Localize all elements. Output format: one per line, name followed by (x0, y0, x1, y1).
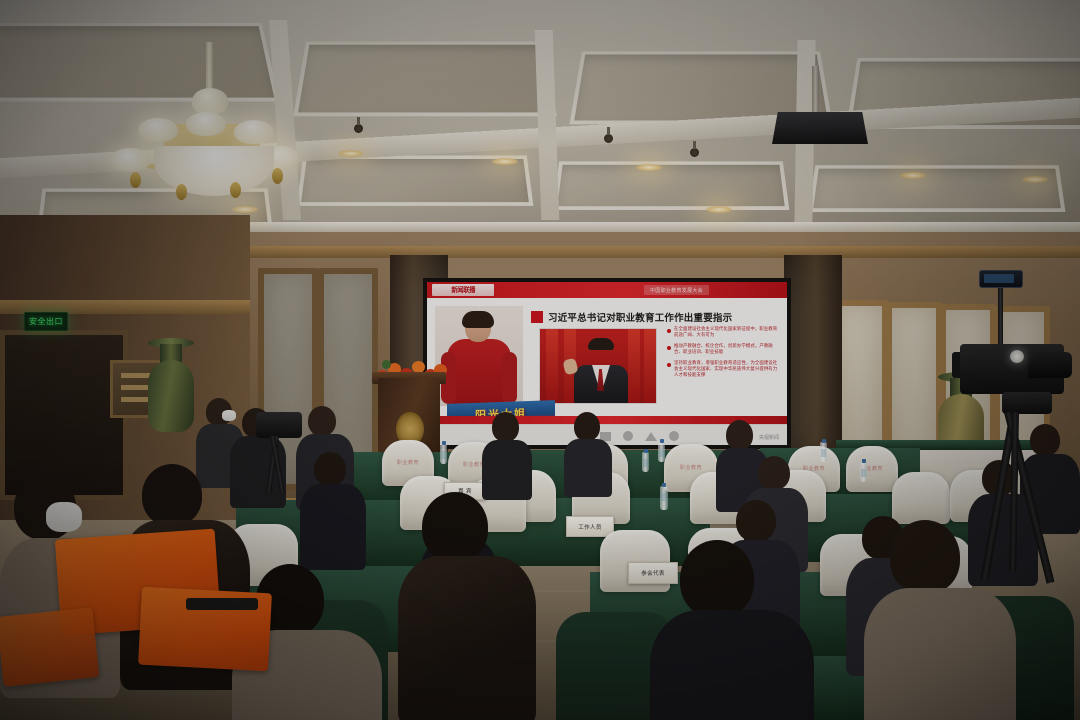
foliage (382, 360, 391, 369)
head (422, 492, 488, 562)
chandelier-lamp (110, 148, 150, 172)
head (492, 412, 519, 442)
bottle-cap (442, 441, 446, 445)
chandelier-bowl (154, 146, 274, 196)
head (890, 520, 960, 594)
bullet-text: 推动产教融合、校企合作，创新办学模式，产教融合、职业培训、职业技能 (674, 343, 779, 355)
event-chip-text: 中国职业教育发展大会 (650, 287, 703, 294)
bullet-dot-icon (667, 329, 671, 333)
camera-lens (1028, 352, 1072, 378)
exit-sign-label: 安全出口 (29, 316, 63, 327)
head (574, 412, 600, 441)
chair-cover-text: 职业教育 (382, 459, 434, 466)
vase-body (148, 360, 194, 432)
bullet-text: 坚持职业教育，增强职业教育适应性，为全面建设社会主义现代化国家、实现中华民族伟大… (674, 360, 779, 378)
name-card-label: 工作人员 (578, 523, 602, 531)
water-bottle[interactable] (820, 442, 827, 462)
ceiling (0, 0, 1080, 250)
flag-element (628, 329, 640, 403)
channel-logo-text: 新闻联播 (451, 285, 475, 295)
chair[interactable]: 职业教育 (846, 446, 898, 492)
photo-hair (588, 338, 614, 350)
sprinkler-head (354, 124, 363, 133)
recessed-downlight (492, 158, 518, 165)
chair-cover-text: 职业教育 (846, 465, 898, 472)
conference-hall-photo: 安全出口 新闻联播 中国职业教育发展大会 LIVE (0, 0, 1080, 720)
chandelier-lamp (186, 112, 226, 136)
anchor-arm (502, 352, 517, 404)
slide-bullet-list: 在全面建设社会主义现代化国家新征程中，职业教育前途广阔、大有可为 推动产教融合、… (667, 326, 779, 383)
anchor-hair (462, 311, 494, 328)
bottle-cap (822, 439, 826, 443)
water-bottle[interactable] (440, 444, 447, 464)
camera-tally-light (1010, 350, 1024, 363)
leader-photo (539, 328, 657, 404)
water-bottle[interactable] (658, 442, 665, 462)
head (308, 406, 336, 436)
orange-tote-bag (0, 607, 99, 687)
chandelier-canopy (192, 88, 228, 114)
ceiling-beam (535, 30, 560, 220)
bullet-text: 在全面建设社会主义现代化国家新征程中，职业教育前途广阔、大有可为 (674, 326, 779, 338)
slide-bullet: 坚持职业教育，增强职业教育适应性，为全面建设社会主义现代化国家、实现中华民族伟大… (667, 360, 779, 378)
chandelier (108, 42, 318, 202)
sprinkler-head (604, 134, 613, 143)
exit-sign: 安全出口 (24, 312, 68, 331)
head (726, 420, 753, 450)
chandelier-lamp (234, 120, 274, 144)
news-anchor-video (435, 306, 523, 406)
recessed-downlight (636, 164, 662, 171)
event-chip: 中国职业教育发展大会 (644, 285, 709, 295)
bag-handle (186, 598, 258, 610)
screen-footer-tag: 央视新闻 (759, 434, 779, 441)
name-card: 工作人员 (566, 516, 614, 537)
recessed-downlight (900, 172, 926, 179)
recessed-downlight (1022, 176, 1048, 183)
screen-body: 习近平总书记对职业教育工作作出重要指示 (427, 298, 787, 425)
head (736, 500, 776, 542)
recessed-downlight (232, 206, 258, 213)
head (142, 464, 202, 526)
recessed-downlight (338, 150, 364, 157)
flag-element (546, 329, 558, 403)
ceiling-coffer (293, 42, 556, 117)
head (680, 540, 754, 618)
water-bottle[interactable] (660, 486, 668, 510)
decorative-vase (140, 338, 202, 434)
torso (300, 484, 366, 570)
torso (864, 588, 1016, 720)
patterned-jacket (398, 556, 536, 720)
water-bottle[interactable] (860, 462, 867, 482)
bottle-cap (644, 449, 648, 453)
side-door (0, 330, 128, 500)
chandelier-drop (230, 182, 241, 198)
name-card-label: 参会代表 (641, 569, 665, 577)
head (1030, 424, 1060, 456)
chair-cover-text: 职业教育 (664, 464, 718, 471)
chandelier-drop (176, 184, 187, 200)
bottle-cap (862, 459, 866, 463)
head (758, 456, 790, 490)
water-bottle[interactable] (642, 452, 649, 472)
bottle-cap (660, 439, 664, 443)
circle-icon (669, 431, 679, 441)
smartphone-recorder[interactable] (979, 270, 1023, 288)
slide-bullet: 在全面建设社会主义现代化国家新征程中，职业教育前途广阔、大有可为 (667, 326, 779, 338)
torso (564, 439, 612, 497)
wall-rail (250, 246, 1080, 258)
channel-logo: 新闻联播 (432, 284, 494, 296)
flag-element (644, 329, 656, 403)
headline-text: 习近平总书记对职业教育工作作出重要指示 (548, 310, 732, 324)
ceiling-coffer (809, 165, 1066, 212)
head (314, 452, 346, 486)
headline-marker (531, 311, 543, 323)
circle-icon (623, 431, 633, 441)
ceiling-coffer (553, 161, 790, 210)
slide-headline: 习近平总书记对职业教育工作作出重要指示 (531, 310, 732, 324)
name-card: 参会代表 (628, 562, 678, 584)
torso (650, 610, 814, 720)
broadcast-top-bar: 新闻联播 中国职业教育发展大会 (427, 282, 787, 298)
slide-bullet: 推动产教融合、校企合作，创新办学模式，产教融合、职业培训、职业技能 (667, 343, 779, 355)
secondary-camera (256, 412, 302, 438)
chandelier-lamp (138, 118, 178, 142)
sprinkler-head (690, 148, 699, 157)
face-mask (222, 410, 236, 421)
recessed-downlight (706, 206, 732, 213)
bottle-cap (662, 483, 666, 487)
chandelier-drop (130, 172, 141, 188)
chandelier-drop (272, 168, 283, 184)
bullet-dot-icon (667, 346, 671, 350)
face-mask (46, 502, 82, 532)
bullet-dot-icon (667, 363, 671, 367)
ceiling-projector (772, 112, 868, 144)
triangle-icon (645, 432, 657, 441)
chair[interactable] (892, 472, 950, 524)
torso (482, 440, 532, 500)
projector-mount-rod (812, 66, 819, 114)
